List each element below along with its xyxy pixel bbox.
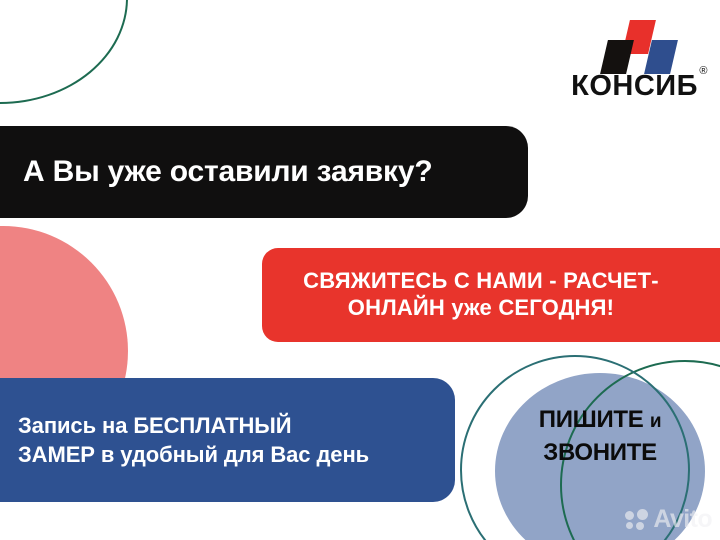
blue-banner-line-2: ЗАМЕР в удобный для Вас день bbox=[0, 440, 455, 469]
logo-brand-name: КОНСИБ bbox=[571, 70, 698, 102]
red-offer-banner: СВЯЖИТЕСЬ С НАМИ - РАСЧЕТ- ОНЛАЙН уже СЕ… bbox=[262, 248, 720, 342]
avito-watermark: Avito bbox=[625, 507, 712, 532]
headline-text: А Вы уже оставили заявку? bbox=[0, 155, 432, 189]
blue-banner-line-1: Запись на БЕСПЛАТНЫЙ bbox=[0, 411, 455, 440]
contact-cta-line-2: ЗВОНИТЕ bbox=[495, 437, 705, 470]
red-offer-line-1: СВЯЖИТЕСЬ С НАМИ - РАСЧЕТ- bbox=[303, 268, 659, 295]
avito-watermark-text: Avito bbox=[653, 507, 712, 532]
logo-mark-group bbox=[568, 18, 708, 68]
red-offer-line-2-part-3: СЕГОДНЯ! bbox=[498, 295, 614, 320]
contact-cta-line-1-part-1: ПИШИТЕ bbox=[539, 406, 650, 433]
red-offer-line-2: ОНЛАЙН уже СЕГОДНЯ! bbox=[303, 295, 659, 322]
red-offer-line-2-part-1: ОНЛАЙН bbox=[348, 295, 452, 320]
avito-dots-icon bbox=[625, 509, 651, 531]
contact-cta-line-1-part-2: и bbox=[650, 411, 661, 432]
contact-cta-text: ПИШИТЕ и ЗВОНИТЕ bbox=[495, 404, 705, 469]
contact-cta-line-1: ПИШИТЕ и bbox=[495, 404, 705, 437]
decorative-green-ring-top-left bbox=[0, 0, 128, 104]
promo-banner: КОНСИБ ® А Вы уже оставили заявку? СВЯЖИ… bbox=[0, 0, 720, 540]
headline-bar: А Вы уже оставили заявку? bbox=[0, 126, 528, 218]
red-offer-text-block: СВЯЖИТЕСЬ С НАМИ - РАСЧЕТ- ОНЛАЙН уже СЕ… bbox=[303, 268, 699, 322]
company-logo: КОНСИБ ® bbox=[568, 18, 708, 106]
blue-free-measure-banner: Запись на БЕСПЛАТНЫЙ ЗАМЕР в удобный для… bbox=[0, 378, 455, 502]
logo-wordmark: КОНСИБ ® bbox=[568, 72, 708, 101]
logo-rhombus-black-icon bbox=[600, 40, 634, 74]
registered-trademark-icon: ® bbox=[699, 66, 708, 77]
red-offer-line-2-part-2: уже bbox=[451, 295, 498, 320]
